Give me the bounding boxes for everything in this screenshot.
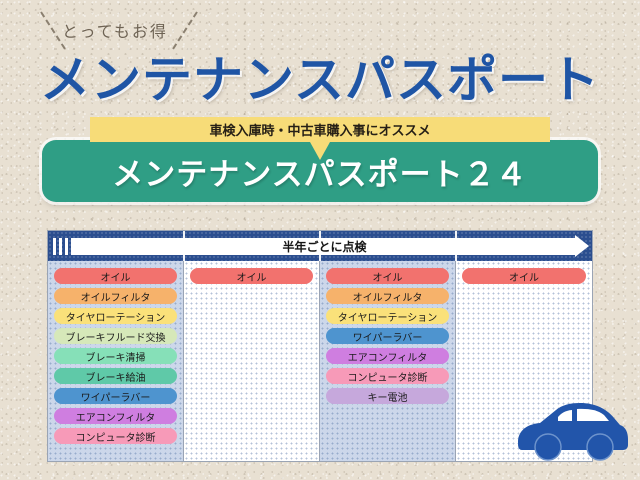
timeline-arrow-head-icon xyxy=(575,235,589,257)
service-pill: コンピュータ診断 xyxy=(326,368,449,384)
poster-background: とってもお得 メンテナンスパスポート 車検入庫時・中古車購入事にオススメ メンテ… xyxy=(0,0,640,480)
tick-bar xyxy=(65,238,68,255)
schedule-header-band: 半年ごとに点検 xyxy=(48,231,592,261)
service-pill: オイルフィルタ xyxy=(54,288,177,304)
service-pill: オイルフィルタ xyxy=(326,288,449,304)
service-pill: タイヤローテーション xyxy=(54,308,177,324)
schedule-column-1: オイルオイルフィルタタイヤローテーションブレーキフルード交換ブレーキ清掃ブレーキ… xyxy=(48,261,184,461)
service-pill: コンピュータ診断 xyxy=(54,428,177,444)
kicker-text: とってもお得 xyxy=(62,18,168,42)
service-pill: オイル xyxy=(462,268,586,284)
service-pill: ワイパーラバー xyxy=(54,388,177,404)
service-pill: エアコンフィルタ xyxy=(326,348,449,364)
service-pill: オイル xyxy=(190,268,313,284)
schedule-column-3: オイルオイルフィルタタイヤローテーションワイパーラバーエアコンフィルタコンピュー… xyxy=(320,261,456,461)
page-title: メンテナンスパスポート xyxy=(0,52,640,108)
service-pill: オイル xyxy=(54,268,177,284)
service-pill: エアコンフィルタ xyxy=(54,408,177,424)
service-pill: ワイパーラバー xyxy=(326,328,449,344)
ribbon-banner: 車検入庫時・中古車購入事にオススメ xyxy=(90,117,550,142)
schedule-column-2: オイル xyxy=(184,261,320,461)
service-pill: ブレーキ給油 xyxy=(54,368,177,384)
service-pill: タイヤローテーション xyxy=(326,308,449,324)
car-side-icon xyxy=(512,392,630,464)
schedule-header-label: 半年ごとに点検 xyxy=(74,238,575,255)
tick-bar xyxy=(53,238,56,255)
service-pill: オイル xyxy=(326,268,449,284)
ribbon-tail-icon xyxy=(310,142,330,160)
tick-bar xyxy=(59,238,62,255)
service-pill: キー電池 xyxy=(326,388,449,404)
service-pill: ブレーキフルード交換 xyxy=(54,328,177,344)
service-pill: ブレーキ清掃 xyxy=(54,348,177,364)
dashed-line-right-icon xyxy=(172,11,198,49)
tick-bars-icon xyxy=(53,238,74,255)
ribbon-label: 車検入庫時・中古車購入事にオススメ xyxy=(90,117,550,142)
kicker-area: とってもお得 xyxy=(0,8,260,54)
schedule-columns: オイルオイルフィルタタイヤローテーションブレーキフルード交換ブレーキ清掃ブレーキ… xyxy=(48,261,592,461)
